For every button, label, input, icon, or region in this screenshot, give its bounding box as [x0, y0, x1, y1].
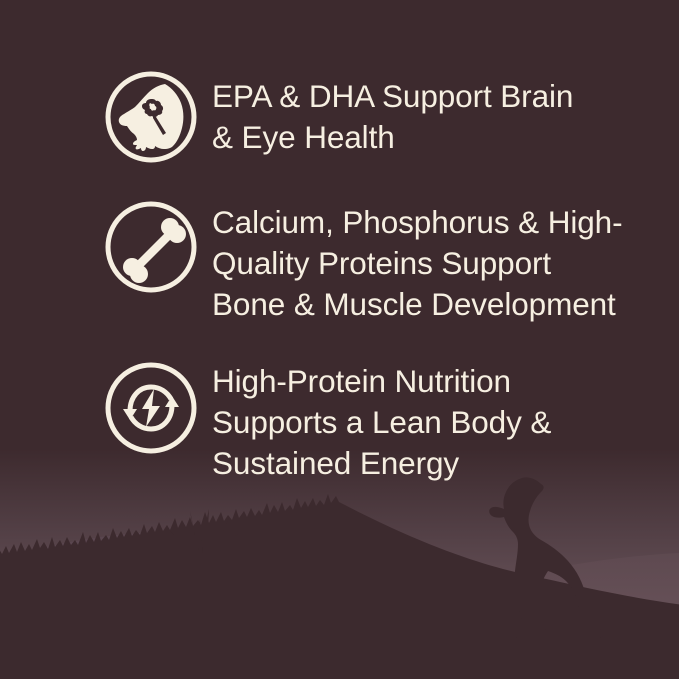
product-feature-panel: EPA & DHA Support Brain & Eye Health — [0, 0, 679, 679]
feature-text: Calcium, Phosphorus & High- Quality Prot… — [212, 200, 622, 325]
feature-text: High-Protein Nutrition Supports a Lean B… — [212, 361, 551, 484]
feature-item-bone-muscle-development: Calcium, Phosphorus & High- Quality Prot… — [0, 200, 679, 325]
energy-cycle-bolt-icon — [104, 361, 198, 455]
feature-text: EPA & DHA Support Brain & Eye Health — [212, 70, 573, 158]
feature-item-lean-body-energy: High-Protein Nutrition Supports a Lean B… — [0, 361, 679, 484]
bone-icon — [104, 200, 198, 294]
dog-head-brain-icon — [104, 70, 198, 164]
feature-item-brain-eye-health: EPA & DHA Support Brain & Eye Health — [0, 70, 679, 164]
feature-list: EPA & DHA Support Brain & Eye Health — [0, 0, 679, 484]
